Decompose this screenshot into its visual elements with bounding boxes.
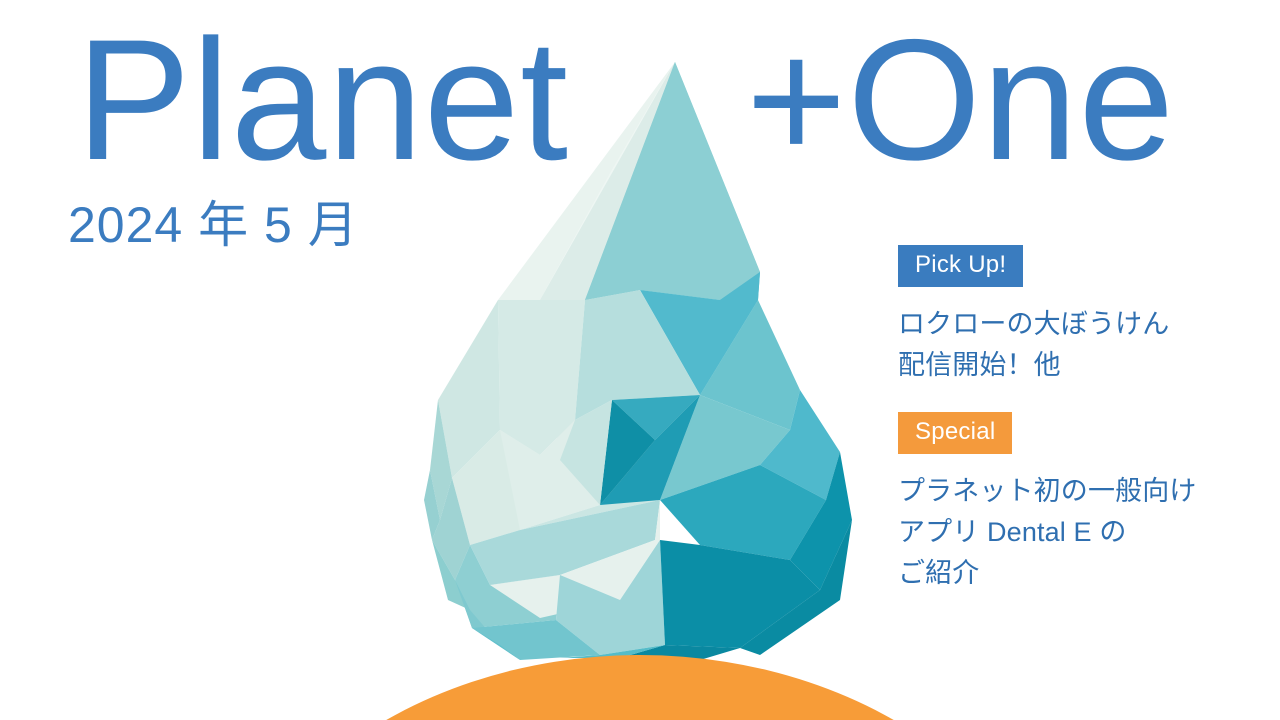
badge-pick-up[interactable]: Pick Up! bbox=[898, 245, 1023, 287]
orange-hill-shape bbox=[200, 655, 1080, 720]
teaser-line: ご紹介 bbox=[898, 553, 1268, 594]
teaser-line: ロクローの大ぼうけん bbox=[898, 304, 1268, 345]
teaser-special-text: プラネット初の一般向け アプリ Dental E の ご紹介 bbox=[898, 471, 1268, 594]
newsletter-cover: Planet +One 2024 年 5 月 Pick Up! ロクローの大ぼう… bbox=[0, 0, 1280, 720]
low-poly-crystal-icon bbox=[424, 62, 852, 660]
teaser-pickup[interactable]: Pick Up! ロクローの大ぼうけん 配信開始！他 bbox=[898, 245, 1268, 386]
teaser-pickup-text: ロクローの大ぼうけん 配信開始！他 bbox=[898, 304, 1268, 386]
badge-special[interactable]: Special bbox=[898, 412, 1012, 454]
teaser-line: プラネット初の一般向け bbox=[898, 471, 1268, 512]
teaser-line: アプリ Dental E の bbox=[898, 512, 1268, 553]
teaser-column: Pick Up! ロクローの大ぼうけん 配信開始！他 Special プラネット… bbox=[898, 245, 1268, 608]
teaser-line: 配信開始！他 bbox=[898, 345, 1268, 386]
teaser-special[interactable]: Special プラネット初の一般向け アプリ Dental E の ご紹介 bbox=[898, 412, 1268, 594]
